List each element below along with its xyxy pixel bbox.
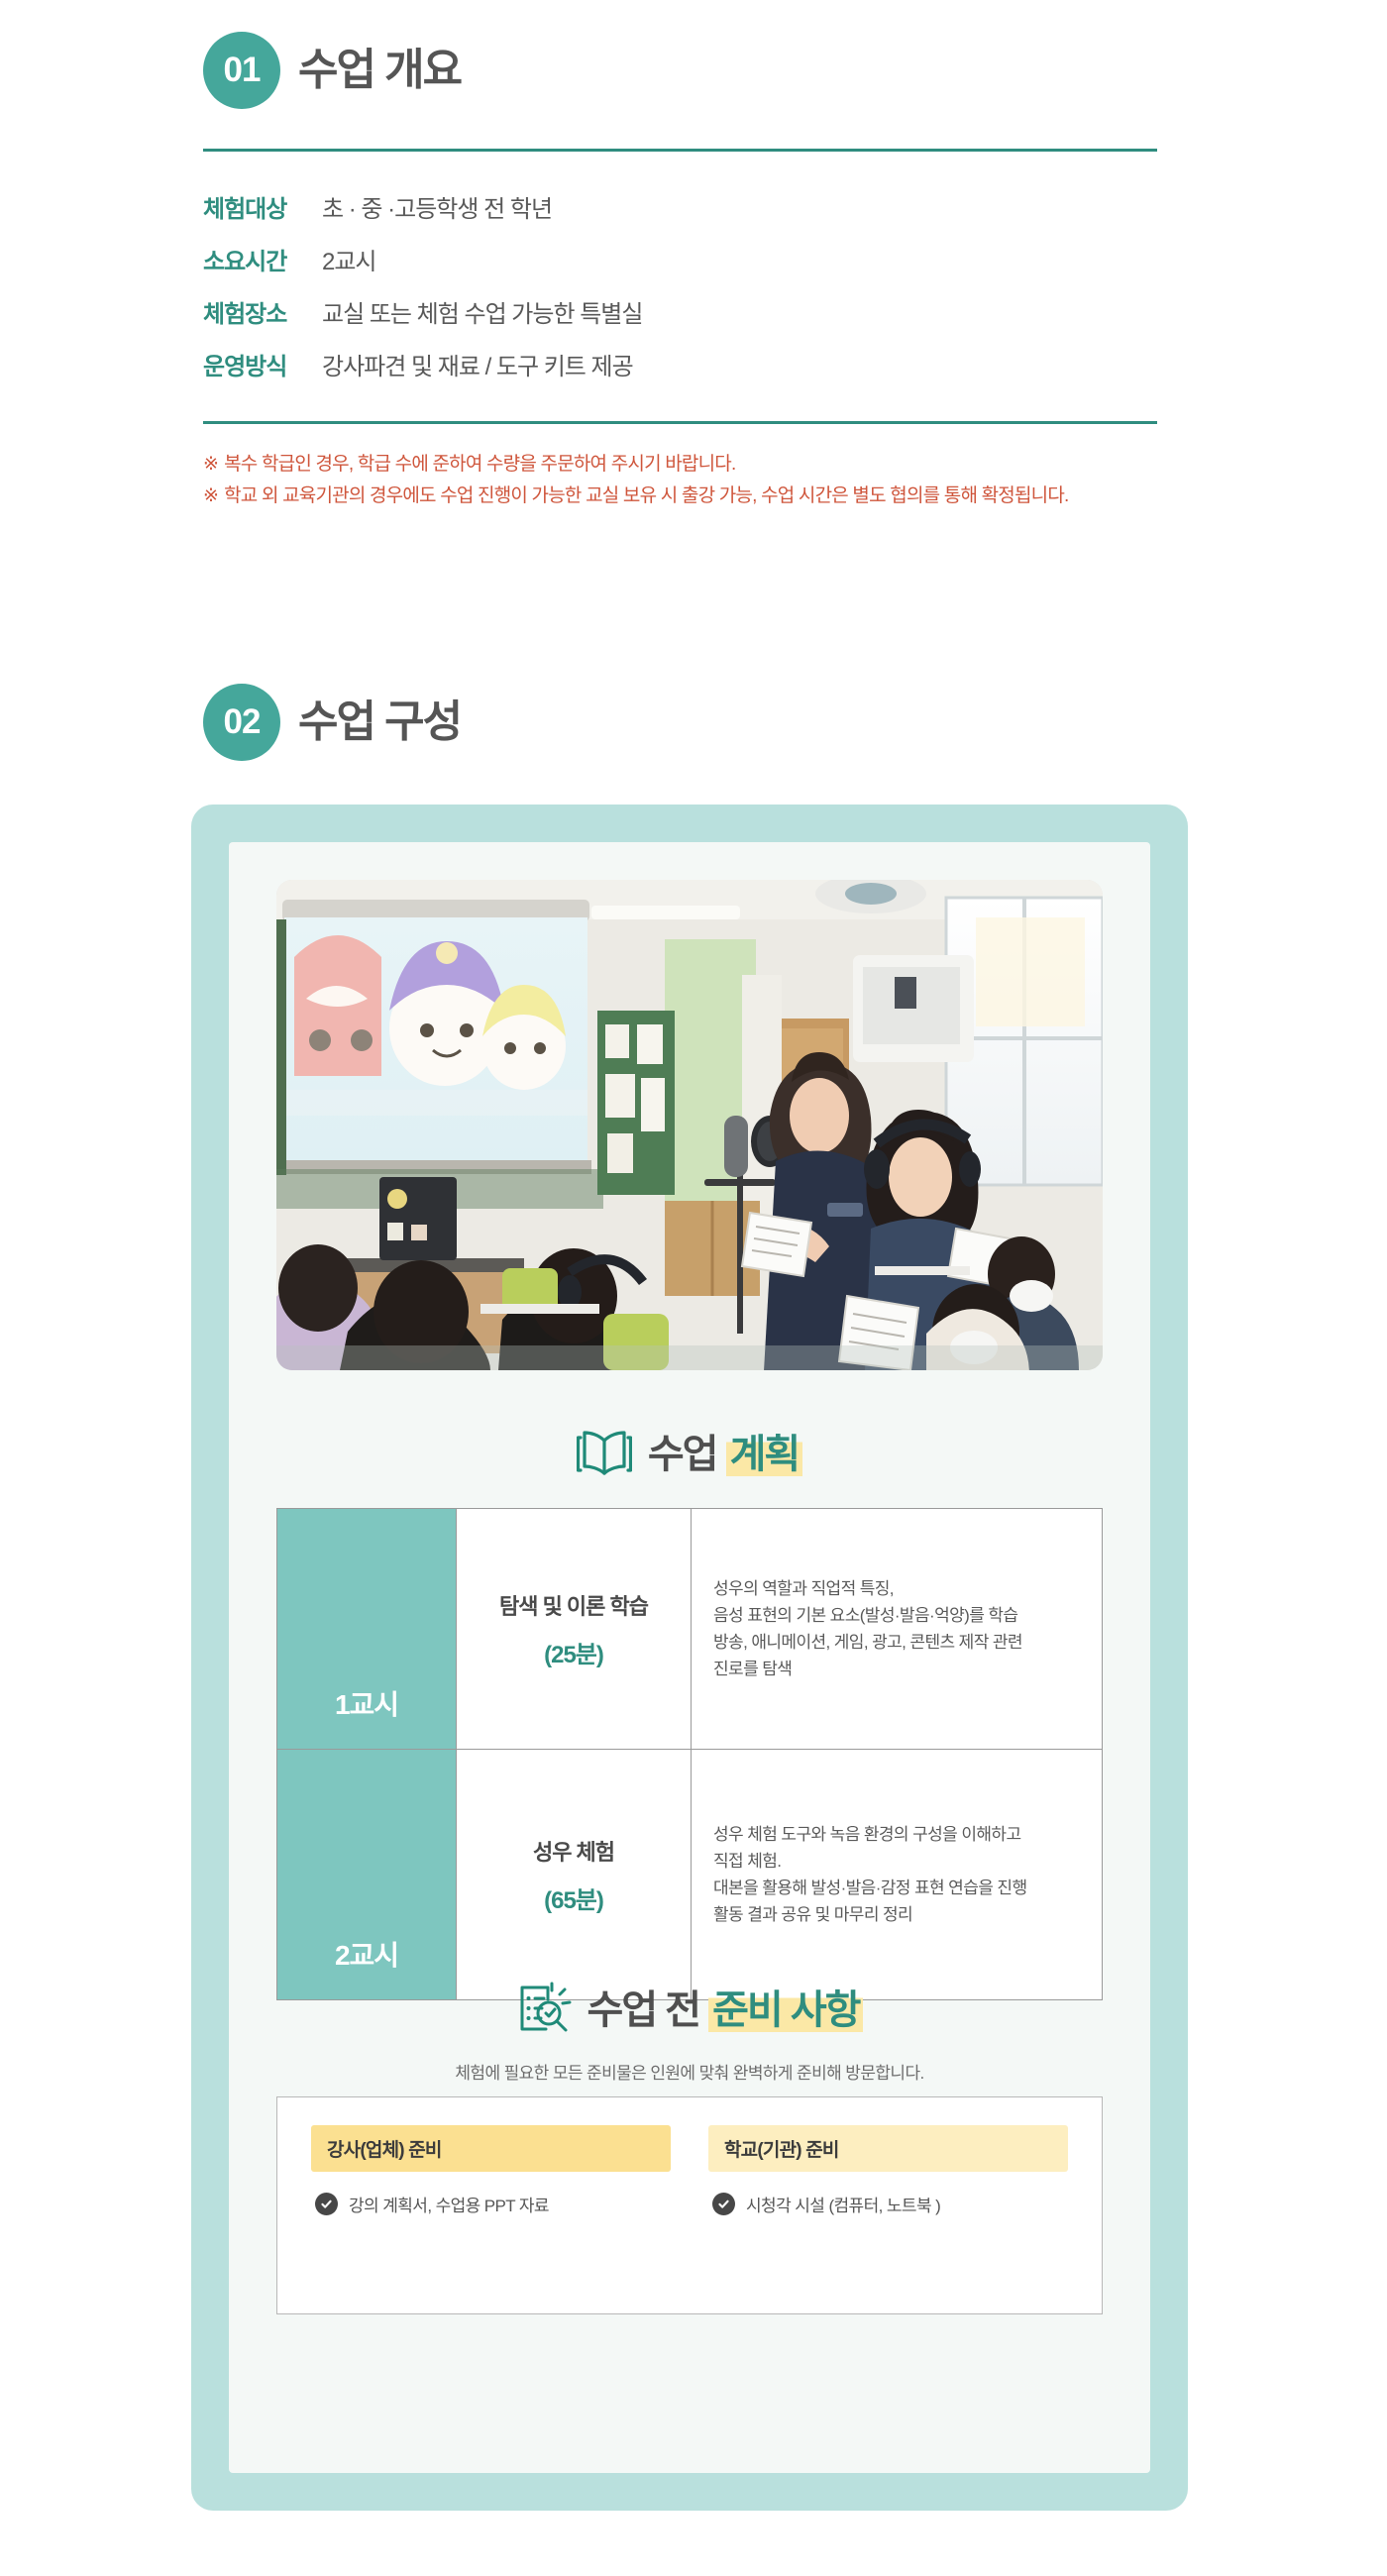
lesson-plan-title-part1: 수업	[648, 1433, 717, 1476]
prep-column-tag: 강사(업체) 준비	[311, 2125, 671, 2172]
overview-value: 초 · 중 ·고등학생 전 학년	[322, 189, 552, 224]
overview-value: 2교시	[322, 242, 376, 276]
plan-detail-line: 성우의 역할과 직업적 특징,	[713, 1575, 1080, 1602]
section-title: 수업 구성	[298, 700, 461, 744]
check-icon	[712, 2193, 735, 2215]
table-row: 소요시간 2교시	[203, 242, 1184, 276]
notes-list: ※ 복수 학급인 경우, 학급 수에 준하여 수량을 주문하여 주시기 바랍니다…	[203, 450, 1184, 511]
overview-value: 교실 또는 체험 수업 가능한 특별실	[322, 294, 642, 329]
prep-item-text: 강의 계획서, 수업용 PPT 자료	[349, 2192, 549, 2216]
plan-detail-line: 성우 체험 도구와 녹음 환경의 구성을 이해하고	[713, 1821, 1080, 1848]
overview-key: 운영방식	[203, 347, 322, 381]
section-01-header: 01 수업 개요	[203, 32, 1184, 109]
section-overview: 01 수업 개요 체험대상 초 · 중 ·고등학생 전 학년 소요시간 2교시 …	[203, 32, 1184, 514]
lesson-plan-title: 수업 계획	[648, 1435, 802, 1474]
table-row: 2교시 성우 체험 (65분) 성우 체험 도구와 녹음 환경의 구성을 이해하…	[277, 1750, 1103, 2000]
prep-heading: 수업 전 준비 사항	[229, 1980, 1150, 2040]
asterisk-icon: ※	[203, 482, 218, 510]
table-row: 1교시 탐색 및 이론 학습 (25분) 성우의 역할과 직업적 특징, 음성 …	[277, 1509, 1103, 1750]
program-page: 01 수업 개요 체험대상 초 · 중 ·고등학생 전 학년 소요시간 2교시 …	[0, 0, 1387, 2576]
list-item: 강의 계획서, 수업용 PPT 자료	[311, 2192, 671, 2216]
lesson-plan-title-part2: 계획	[726, 1433, 803, 1476]
prep-title-part2: 준비 사항	[708, 1988, 863, 2032]
plan-detail-line: 직접 체험.	[713, 1848, 1080, 1875]
check-icon	[315, 2193, 338, 2215]
prep-title-part1: 수업 전	[587, 1988, 700, 2032]
prep-box: 강사(업체) 준비 강의 계획서, 수업용 PPT 자료 학교(기관) 준비	[276, 2096, 1103, 2314]
section-number-badge: 02	[203, 684, 280, 761]
plan-detail-line: 대본을 활용해 발성·발음·감정 표현 연습을 진행	[713, 1875, 1080, 1901]
prep-column-school: 학교(기관) 준비 시청각 시설 (컴퓨터, 노트북 )	[708, 2125, 1068, 2216]
section-structure: 02 수업 구성	[203, 684, 1184, 761]
prep-item-text: 시청각 시설 (컴퓨터, 노트북 )	[746, 2192, 940, 2216]
plan-period-label: 2교시	[277, 1750, 456, 1999]
plan-detail-line: 활동 결과 공유 및 마무리 정리	[713, 1901, 1080, 1928]
overview-value: 강사파견 및 재료 / 도구 키트 제공	[322, 347, 633, 381]
checklist-search-icon	[516, 1980, 572, 2040]
table-row: 운영방식 강사파견 및 재료 / 도구 키트 제공	[203, 347, 1184, 381]
plan-topic-cell: 탐색 및 이론 학습 (25분)	[457, 1509, 692, 1750]
classroom-photo	[276, 880, 1103, 1370]
note-text: 복수 학급인 경우, 학급 수에 준하여 수량을 주문하여 주시기 바랍니다.	[224, 450, 735, 479]
divider-top	[203, 149, 1157, 152]
section-number-badge: 01	[203, 32, 280, 109]
plan-detail-cell: 성우 체험 도구와 녹음 환경의 구성을 이해하고 직접 체험. 대본을 활용해…	[692, 1750, 1103, 2000]
lesson-plan-table: 1교시 탐색 및 이론 학습 (25분) 성우의 역할과 직업적 특징, 음성 …	[276, 1508, 1103, 2000]
prep-title: 수업 전 준비 사항	[587, 1990, 864, 2030]
plan-period-label: 1교시	[277, 1509, 456, 1749]
list-item: 시청각 시설 (컴퓨터, 노트북 )	[708, 2192, 1068, 2216]
lesson-plan-heading: 수업 계획	[229, 1427, 1150, 1481]
table-row: 체험장소 교실 또는 체험 수업 가능한 특별실	[203, 294, 1184, 329]
list-item: ※ 복수 학급인 경우, 학급 수에 준하여 수량을 주문하여 주시기 바랍니다…	[203, 450, 1184, 479]
open-book-icon	[577, 1427, 632, 1481]
page-title: 수업 개요	[298, 49, 461, 92]
overview-key: 체험대상	[203, 189, 322, 224]
note-text: 학교 외 교육기관의 경우에도 수업 진행이 가능한 교실 보유 시 출강 가능…	[224, 482, 1068, 510]
structure-inner-panel: 수업 계획 1교시 탐색 및 이론 학습 (25분) 성우의 역할과 직업적 특…	[229, 842, 1150, 2473]
prep-subtitle: 체험에 필요한 모든 준비물은 인원에 맞춰 완벽하게 준비해 방문합니다.	[229, 2059, 1150, 2084]
plan-duration-label: (65분)	[465, 1880, 683, 1915]
plan-detail-cell: 성우의 역할과 직업적 특징, 음성 표현의 기본 요소(발성·발음·억양)를 …	[692, 1509, 1103, 1750]
prep-column-tag: 학교(기관) 준비	[708, 2125, 1068, 2172]
plan-topic-label: 성우 체험	[465, 1835, 683, 1867]
plan-period-cell: 1교시	[277, 1509, 457, 1750]
plan-detail-line: 방송, 애니메이션, 게임, 광고, 콘텐츠 제작 관련	[713, 1629, 1080, 1656]
plan-detail-line: 진로를 탐색	[713, 1656, 1080, 1682]
plan-duration-label: (25분)	[465, 1635, 683, 1669]
overview-table: 체험대상 초 · 중 ·고등학생 전 학년 소요시간 2교시 체험장소 교실 또…	[203, 189, 1184, 381]
section-02-header: 02 수업 구성	[203, 684, 1184, 761]
structure-card: 수업 계획 1교시 탐색 및 이론 학습 (25분) 성우의 역할과 직업적 특…	[191, 805, 1188, 2511]
overview-key: 소요시간	[203, 242, 322, 276]
divider-bottom	[203, 421, 1157, 424]
list-item: ※ 학교 외 교육기관의 경우에도 수업 진행이 가능한 교실 보유 시 출강 …	[203, 482, 1184, 510]
table-row: 체험대상 초 · 중 ·고등학생 전 학년	[203, 189, 1184, 224]
overview-key: 체험장소	[203, 294, 322, 329]
asterisk-icon: ※	[203, 450, 218, 479]
plan-topic-label: 탐색 및 이론 학습	[465, 1589, 683, 1621]
prep-columns: 강사(업체) 준비 강의 계획서, 수업용 PPT 자료 학교(기관) 준비	[277, 2097, 1102, 2216]
classroom-photo-illustration	[276, 880, 1103, 1370]
prep-column-instructor: 강사(업체) 준비 강의 계획서, 수업용 PPT 자료	[311, 2125, 671, 2216]
plan-detail-line: 음성 표현의 기본 요소(발성·발음·억양)를 학습	[713, 1602, 1080, 1629]
plan-period-cell: 2교시	[277, 1750, 457, 2000]
plan-topic-cell: 성우 체험 (65분)	[457, 1750, 692, 2000]
